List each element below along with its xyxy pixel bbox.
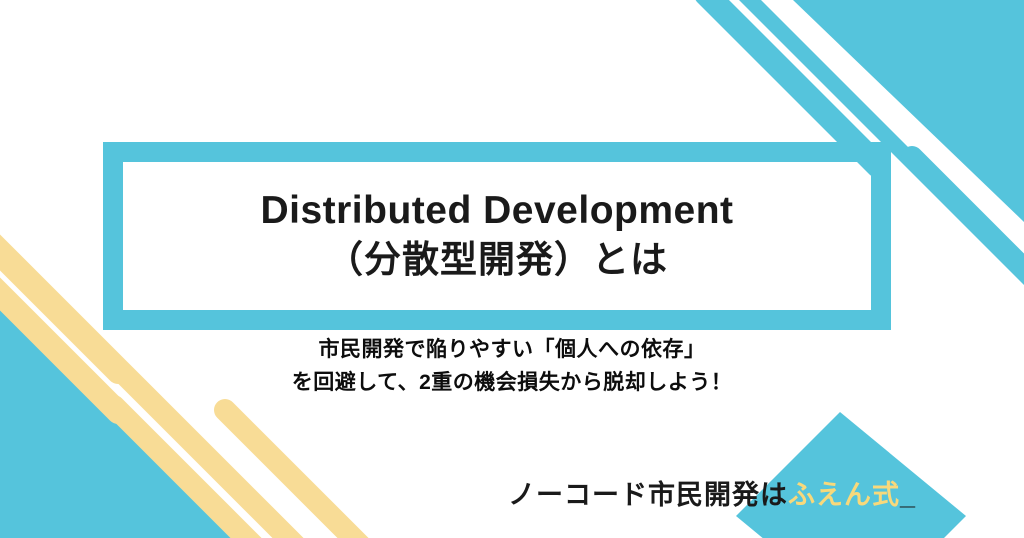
- slide-canvas: Distributed Development （分散型開発）とは 市民開発で陥…: [0, 0, 1024, 538]
- title-block: Distributed Development （分散型開発）とは: [103, 142, 891, 330]
- cyan-diagonal-short-bar: [912, 157, 1024, 275]
- brand-line: ノーコード市民開発はふえん式_: [508, 478, 916, 512]
- brand-caret: _: [900, 480, 916, 510]
- subtitle-block: 市民開発で陥りやすい「個人への依存」 を回避して、2重の機会損失から脱却しよう！: [0, 333, 1024, 399]
- page-title-japanese: （分散型開発）とは: [326, 235, 668, 285]
- subtitle-line-2: を回避して、2重の機会損失から脱却しよう！: [0, 366, 1024, 399]
- brand-name: ふえん式: [788, 480, 900, 510]
- branding-block: ノーコード市民開発はふえん式_: [0, 472, 1024, 518]
- brand-prefix: ノーコード市民開発は: [508, 480, 788, 510]
- page-title-english: Distributed Development: [260, 187, 733, 235]
- subtitle-line-1: 市民開発で陥りやすい「個人への依存」: [0, 333, 1024, 366]
